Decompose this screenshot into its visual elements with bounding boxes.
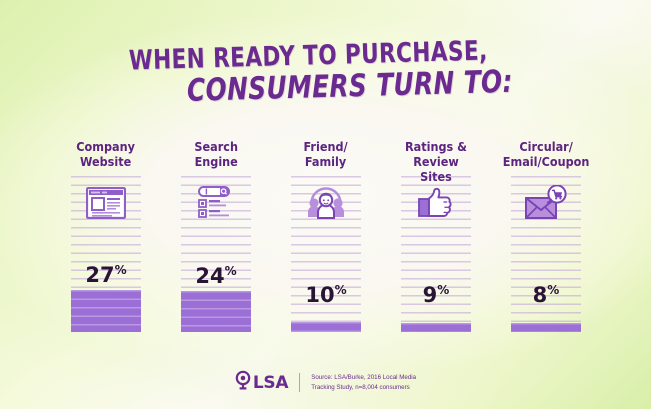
value-label: 27% bbox=[71, 264, 141, 286]
column-label: Friend/ Family bbox=[304, 140, 348, 174]
chart-column-friend-family: Friend/ Family bbox=[282, 140, 370, 332]
footer-divider bbox=[299, 373, 300, 392]
chart-column-circular-email-coupon: Circular/ Email/Coupon 8% bbox=[502, 140, 590, 332]
value-bar bbox=[181, 291, 251, 332]
envelope-cart-icon bbox=[511, 182, 581, 224]
value-bar bbox=[401, 323, 471, 332]
search-results-icon: I bbox=[181, 182, 251, 224]
thumbs-up-icon bbox=[401, 182, 471, 224]
value-bar bbox=[71, 290, 141, 332]
value-label: 24% bbox=[181, 265, 251, 287]
column-track: 8% bbox=[511, 174, 581, 332]
lsa-logo: LSA bbox=[235, 370, 288, 395]
lsa-magnifier-icon bbox=[235, 370, 251, 395]
value-bar bbox=[291, 322, 361, 332]
column-track: 10% bbox=[291, 174, 361, 332]
value-bar bbox=[511, 323, 581, 332]
column-label: Search Engine bbox=[194, 140, 238, 174]
source-citation: Source: LSA/Burke, 2016 Local Media Trac… bbox=[311, 373, 416, 392]
value-label: 8% bbox=[511, 284, 581, 306]
chart-column-company-website: Company Website bbox=[62, 140, 150, 332]
browser-window-icon bbox=[71, 182, 141, 224]
column-label: Circular/ Email/Coupon bbox=[503, 140, 590, 174]
value-label: 9% bbox=[401, 284, 471, 306]
chart-column-search-engine: Search Engine I bbox=[172, 140, 260, 332]
column-track: 27% bbox=[71, 174, 141, 332]
column-track: 9% bbox=[401, 174, 471, 332]
column-track: I 24% bbox=[181, 174, 251, 332]
page-title: WHEN READY TO PURCHASE, CONSUMERS TURN T… bbox=[0, 33, 651, 112]
lsa-logo-text: LSA bbox=[253, 373, 288, 393]
svg-text:I: I bbox=[205, 187, 208, 196]
value-label: 10% bbox=[291, 284, 361, 306]
bar-chart: Company Website bbox=[62, 140, 590, 332]
column-label: Ratings & Review Sites bbox=[396, 140, 475, 174]
chart-column-ratings-review-sites: Ratings & Review Sites 9% bbox=[392, 140, 480, 332]
people-group-icon bbox=[291, 182, 361, 224]
infographic-poster: WHEN READY TO PURCHASE, CONSUMERS TURN T… bbox=[0, 0, 651, 409]
column-label: Company Website bbox=[77, 140, 136, 174]
footer: LSA Source: LSA/Burke, 2016 Local Media … bbox=[0, 370, 651, 395]
